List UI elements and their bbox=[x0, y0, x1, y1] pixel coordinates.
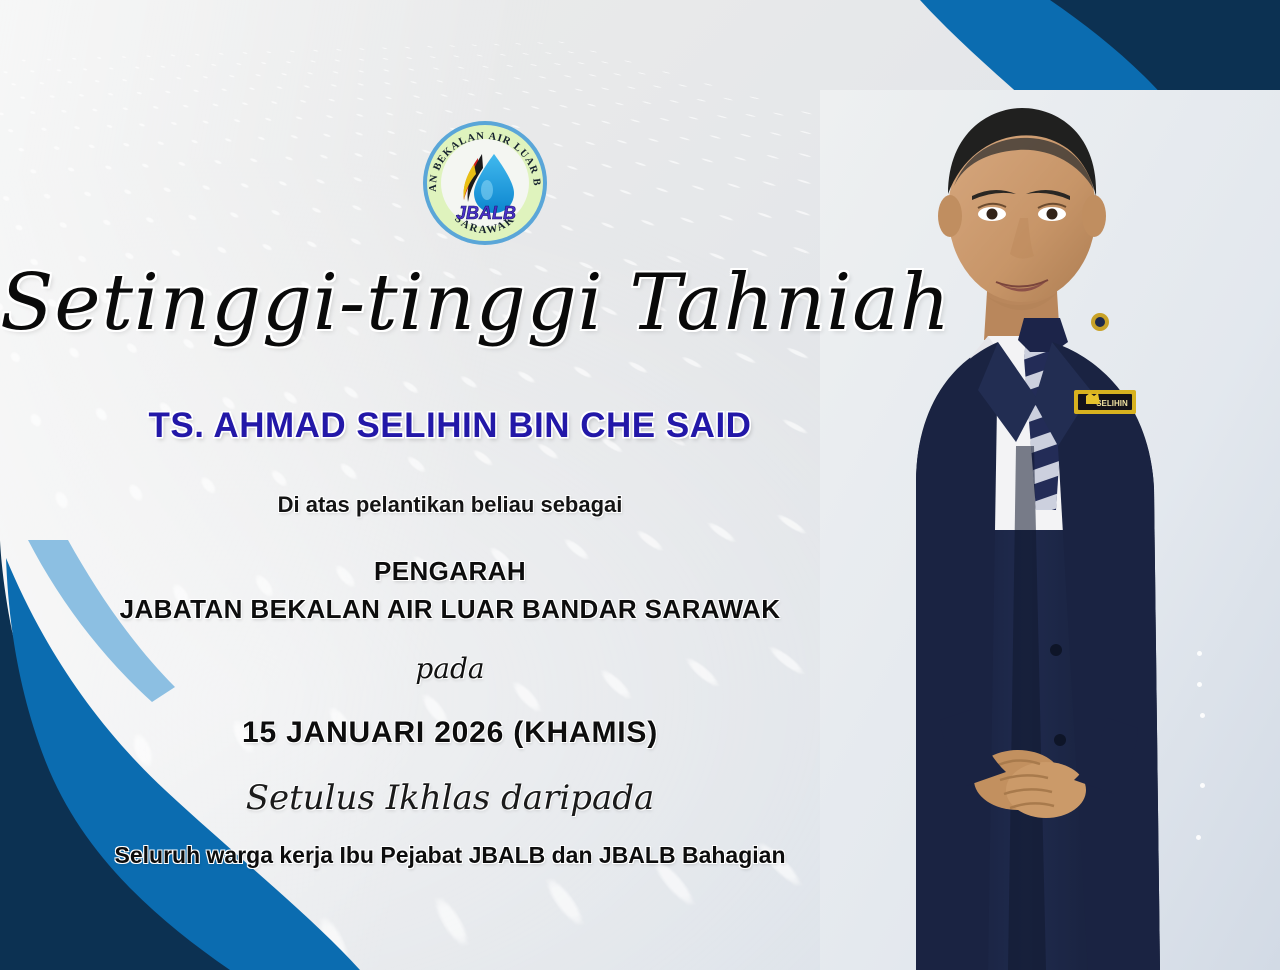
background-speck bbox=[1196, 835, 1201, 840]
honoree-name: TS. AHMAD SELIHIN BIN CHE SAID bbox=[0, 406, 900, 446]
congratulations-poster: SELIHIN bbox=[0, 0, 1280, 970]
pada-label: pada bbox=[0, 652, 900, 685]
script-title: Setinggi-tinggi Tahniah bbox=[0, 258, 900, 348]
from-sender-text: Seluruh warga kerja Ibu Pejabat JBALB da… bbox=[0, 842, 900, 869]
position-title-line-1: PENGARAH bbox=[0, 556, 900, 587]
background-speck bbox=[1197, 682, 1202, 687]
logo-acronym: JBALB bbox=[456, 203, 516, 223]
background-dot-texture bbox=[0, 0, 562, 60]
name-badge-text: SELIHIN bbox=[1096, 399, 1128, 408]
appointment-date: 15 JANUARI 2026 (KHAMIS) bbox=[0, 716, 900, 750]
position-title-line-2: JABATAN BEKALAN AIR LUAR BANDAR SARAWAK bbox=[0, 594, 900, 625]
background-speck bbox=[1197, 651, 1202, 656]
portrait-photo: SELIHIN bbox=[820, 90, 1280, 970]
background-speck bbox=[1200, 713, 1205, 718]
background-speck bbox=[1200, 783, 1205, 788]
from-script-text: Setulus Ikhlas daripada bbox=[0, 778, 900, 818]
jbalb-logo: JABATAN BEKALAN AIR LUAR BANDAR SARAWAK … bbox=[420, 118, 550, 248]
appointment-subline: Di atas pelantikan beliau sebagai bbox=[0, 492, 900, 518]
